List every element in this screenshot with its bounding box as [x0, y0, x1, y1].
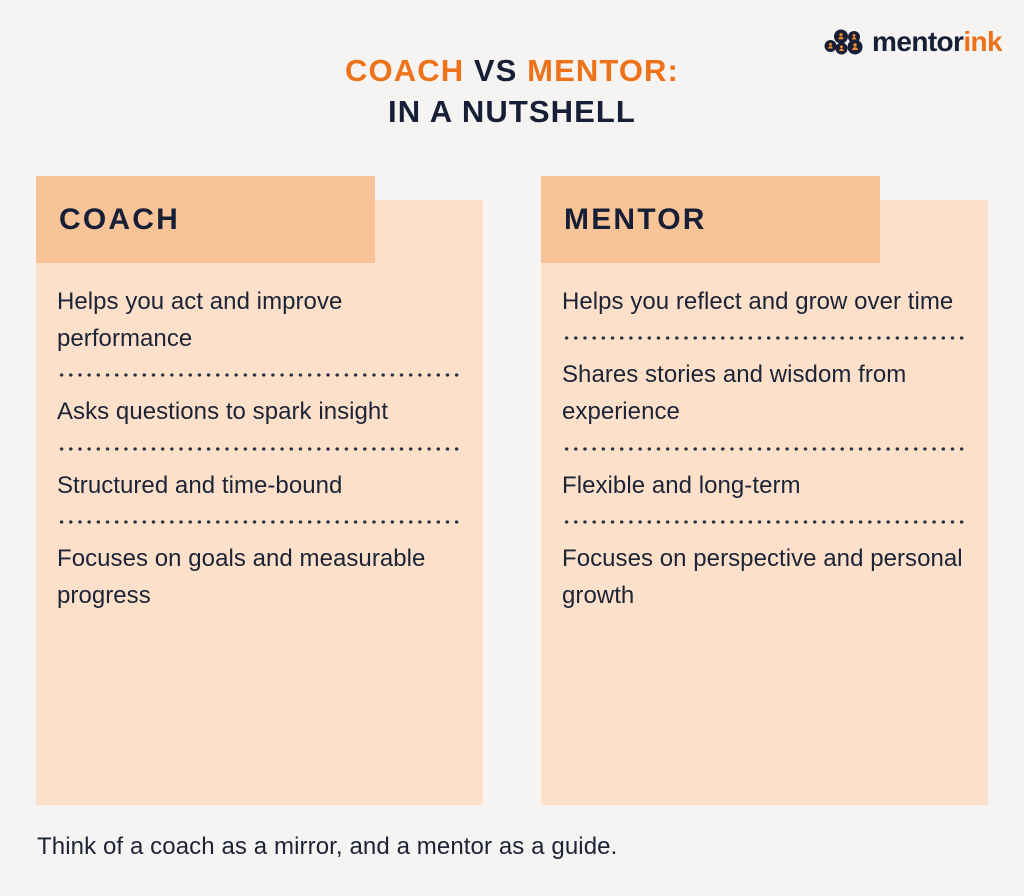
comparison-card-coach: COACH Helps you act and improve performa… — [36, 176, 483, 805]
comparison-card-mentor: MENTOR Helps you reflect and grow over t… — [541, 176, 988, 805]
infographic-page: mentorink COACH VS MENTOR: IN A NUTSHELL… — [0, 0, 1024, 896]
list-item: Shares stories and wisdom from experienc… — [562, 340, 966, 446]
title-word-coach: COACH — [345, 53, 474, 88]
card-heading-label: MENTOR — [541, 205, 707, 235]
title-line-2: IN A NUTSHELL — [0, 91, 1024, 132]
footer-note: Think of a coach as a mirror, and a ment… — [37, 831, 617, 862]
card-heading-label: COACH — [36, 205, 180, 235]
list-item: Asks questions to spark insight — [57, 377, 461, 446]
title-line-1: COACH VS MENTOR: — [0, 50, 1024, 91]
card-header-mentor: MENTOR — [541, 176, 880, 263]
list-item: Focuses on perspective and personal grow… — [562, 524, 966, 630]
card-row-list-coach: Helps you act and improve performance As… — [36, 263, 483, 630]
list-item: Structured and time-bound — [57, 451, 461, 520]
page-title: COACH VS MENTOR: IN A NUTSHELL — [0, 50, 1024, 132]
list-item: Helps you act and improve performance — [57, 263, 461, 373]
list-item: Flexible and long-term — [562, 451, 966, 520]
list-item: Helps you reflect and grow over time — [562, 263, 966, 336]
card-header-coach: COACH — [36, 176, 375, 263]
list-item: Focuses on goals and measurable progress — [57, 524, 461, 630]
title-word-vs: VS — [474, 53, 527, 88]
card-row-list-mentor: Helps you reflect and grow over time Sha… — [541, 263, 988, 630]
title-word-mentor: MENTOR: — [527, 53, 679, 88]
